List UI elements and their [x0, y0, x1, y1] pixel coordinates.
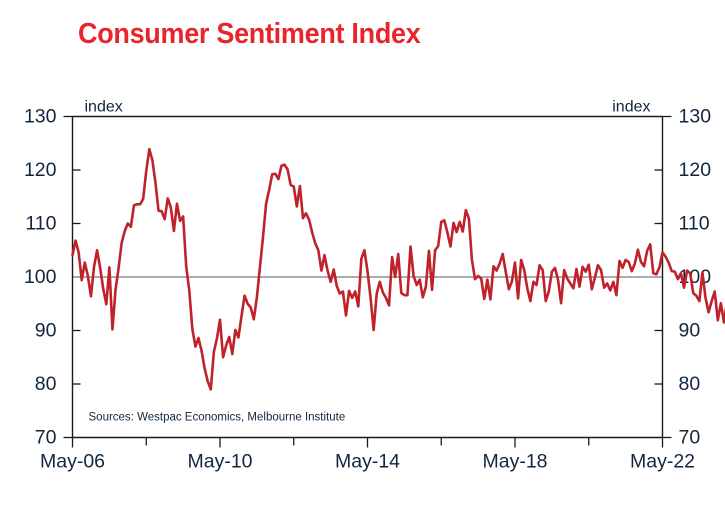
x-axis-label-May-18: May-18 — [482, 451, 547, 473]
source-note: Sources: Westpac Economics, Melbourne In… — [89, 412, 346, 424]
y-axis-label-left-70: 70 — [35, 427, 57, 449]
y-axis-label-right-120: 120 — [679, 159, 712, 181]
y-axis-label-left-100: 100 — [24, 266, 57, 288]
y-axis-label-right-130: 130 — [679, 106, 712, 128]
chart-plot-area: 130130120120110110100100909080807070May-… — [0, 0, 725, 512]
y-axis-label-left-110: 110 — [25, 213, 56, 235]
x-axis-label-May-10: May-10 — [187, 451, 252, 473]
y-axis-label-left-130: 130 — [24, 106, 57, 128]
y-axis-label-right-70: 70 — [679, 427, 701, 449]
y-axis-label-right-110: 110 — [679, 213, 710, 235]
y-axis-label-left-80: 80 — [35, 373, 57, 395]
y-axis-label-left-120: 120 — [24, 159, 57, 181]
y-axis-label-left-90: 90 — [35, 320, 57, 342]
x-axis-label-May-14: May-14 — [335, 451, 400, 473]
unit-label-right: index — [612, 99, 650, 116]
data-series-0 — [73, 149, 725, 407]
y-axis-label-right-90: 90 — [679, 320, 701, 342]
x-axis-label-May-06: May-06 — [40, 451, 105, 473]
chart-figure: Consumer Sentiment Index 130130120120110… — [0, 0, 725, 512]
unit-label-left: index — [85, 99, 123, 116]
y-axis-label-right-80: 80 — [679, 373, 701, 395]
x-axis-label-May-22: May-22 — [630, 451, 695, 473]
